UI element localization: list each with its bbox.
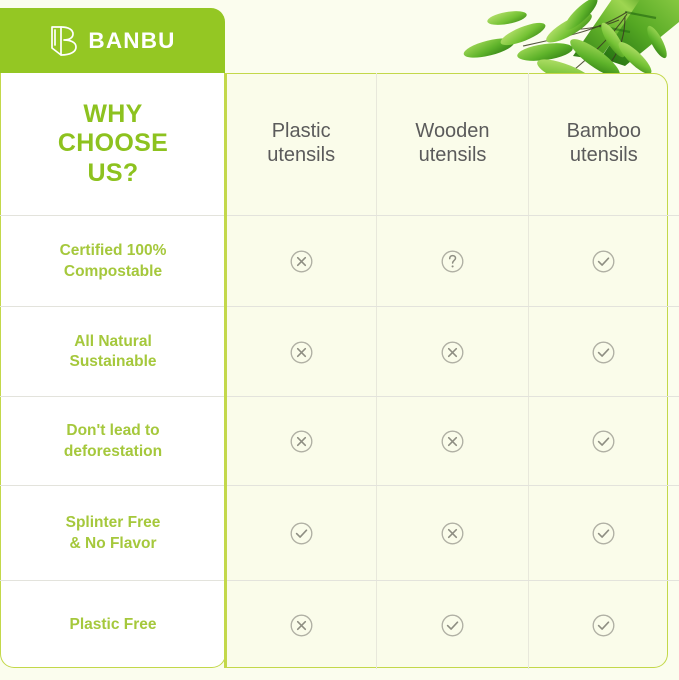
circle-check-icon [591, 613, 616, 638]
column-header-line-1: Wooden [415, 120, 489, 144]
circle-check-icon [591, 249, 616, 274]
column-header-bamboo: Bamboo utensils [528, 73, 679, 215]
status-cell-plastic [226, 216, 376, 307]
title-line-1: WHY [58, 100, 168, 130]
circle-check-icon [591, 429, 616, 454]
circle-cross-icon [440, 429, 465, 454]
feature-label-line-2: & No Flavor [66, 534, 161, 554]
feature-label-line-1: Plastic Free [69, 615, 156, 635]
column-header-line-1: Bamboo [567, 120, 642, 144]
column-header-plastic: Plastic utensils [226, 73, 376, 215]
circle-cross-icon [289, 340, 314, 365]
feature-label-line-1: Splinter Free [66, 513, 161, 533]
status-cell-wooden [376, 486, 527, 581]
circle-cross-icon [289, 249, 314, 274]
circle-cross-icon [289, 429, 314, 454]
circle-check-icon [289, 521, 314, 546]
status-cell-bamboo [528, 307, 679, 397]
feature-label-cell: Plastic Free [0, 581, 226, 669]
column-header-line-2: utensils [415, 144, 489, 168]
circle-check-icon [591, 340, 616, 365]
feature-label-cell: Splinter Free & No Flavor [0, 486, 226, 581]
table-header-row: WHY CHOOSE US? Plastic utensils Wooden u… [0, 73, 679, 215]
why-choose-us-cell: WHY CHOOSE US? [0, 73, 226, 215]
feature-label-line-1: Don't lead to [64, 421, 162, 441]
status-cell-wooden [376, 216, 527, 307]
column-header-wooden: Wooden utensils [376, 73, 527, 215]
status-cell-wooden [376, 397, 527, 486]
feature-label-cell: Don't lead to deforestation [0, 397, 226, 486]
title-line-2: CHOOSE [58, 129, 168, 159]
status-cell-plastic [226, 397, 376, 486]
feature-label-line-2: Compostable [60, 262, 167, 282]
status-cell-plastic [226, 307, 376, 397]
feature-label-cell: All Natural Sustainable [0, 307, 226, 397]
banbu-b-leaf-logo-icon [49, 24, 79, 58]
column-header-line-2: utensils [567, 144, 642, 168]
table-row: All Natural Sustainable [0, 306, 679, 397]
status-cell-plastic [226, 486, 376, 581]
circle-question-icon [440, 249, 465, 274]
feature-label-line-1: All Natural [70, 332, 157, 352]
brand-header: BANBU [0, 8, 225, 73]
table-row: Plastic Free [0, 580, 679, 669]
table-row: Splinter Free & No Flavor [0, 485, 679, 581]
comparison-table: WHY CHOOSE US? Plastic utensils Wooden u… [0, 73, 679, 668]
table-row: Certified 100% Compostable [0, 215, 679, 307]
status-cell-bamboo [528, 486, 679, 581]
feature-label-line-1: Certified 100% [60, 241, 167, 261]
page-title: WHY CHOOSE US? [58, 100, 168, 189]
circle-cross-icon [440, 521, 465, 546]
feature-label-line-2: deforestation [64, 442, 162, 462]
column-header-line-1: Plastic [267, 120, 335, 144]
status-cell-wooden [376, 581, 527, 669]
brand-name: BANBU [88, 28, 175, 54]
status-cell-bamboo [528, 397, 679, 486]
title-line-3: US? [58, 159, 168, 189]
column-header-line-2: utensils [267, 144, 335, 168]
table-row: Don't lead to deforestation [0, 396, 679, 486]
circle-check-icon [440, 613, 465, 638]
circle-check-icon [591, 521, 616, 546]
status-cell-wooden [376, 307, 527, 397]
status-cell-bamboo [528, 581, 679, 669]
status-cell-bamboo [528, 216, 679, 307]
feature-label-line-2: Sustainable [70, 352, 157, 372]
circle-cross-icon [440, 340, 465, 365]
status-cell-plastic [226, 581, 376, 669]
panel-divider [224, 73, 227, 668]
table-grid: WHY CHOOSE US? Plastic utensils Wooden u… [0, 73, 679, 668]
feature-label-cell: Certified 100% Compostable [0, 216, 226, 307]
circle-cross-icon [289, 613, 314, 638]
